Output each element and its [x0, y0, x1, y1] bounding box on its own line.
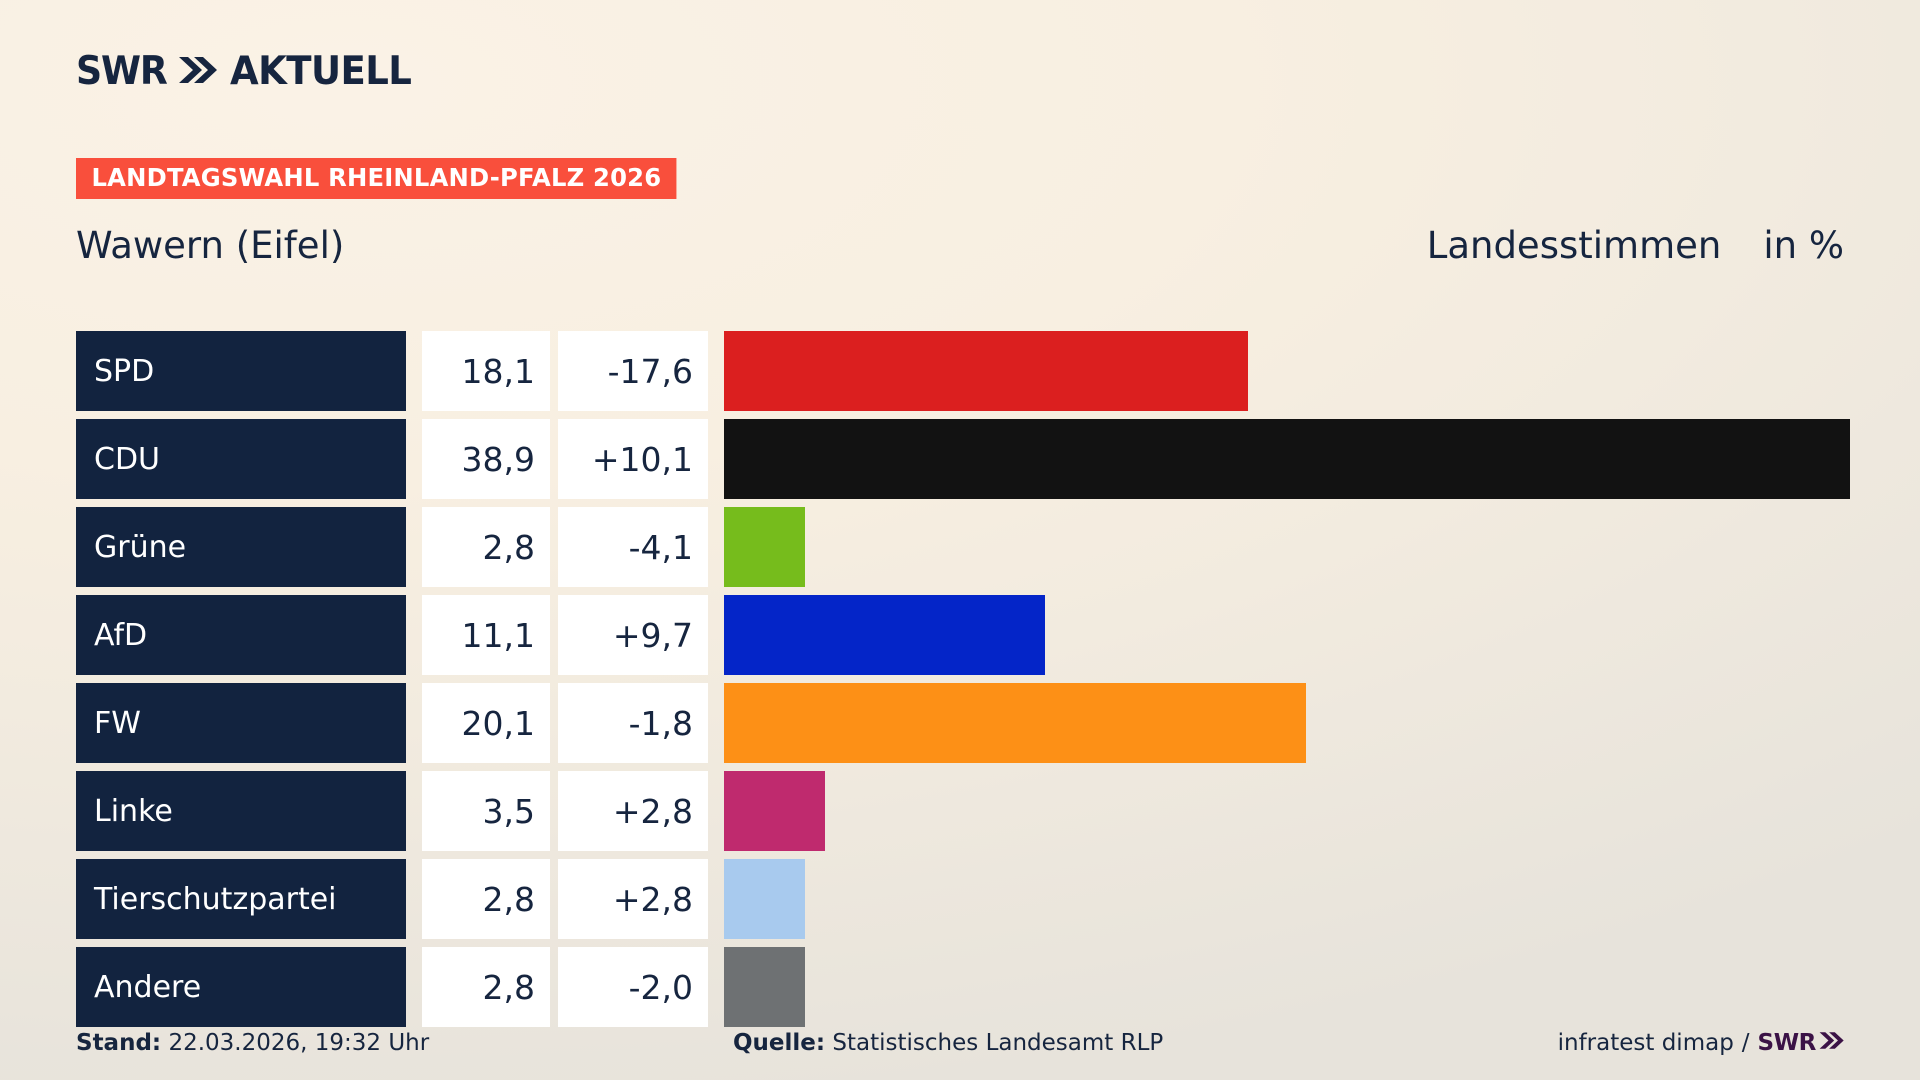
party-name-cell: CDU: [76, 419, 406, 499]
party-share-cell: 2,8: [422, 507, 550, 587]
footer-stand-label: Stand:: [76, 1030, 161, 1056]
chart-row: Linke3,5+2,8: [76, 771, 1920, 851]
footer-source-label: Quelle:: [733, 1030, 825, 1056]
chevron-double-right-icon: [177, 55, 217, 88]
footer-source: Quelle: Statistisches Landesamt RLP: [733, 1030, 1163, 1056]
election-kicker-badge: LANDTAGSWAHL RHEINLAND-PFALZ 2026: [76, 158, 677, 199]
party-name-cell: FW: [76, 683, 406, 763]
party-name-cell: AfD: [76, 595, 406, 675]
party-change-cell: -17,6: [558, 331, 708, 411]
region-name: Wawern (Eifel): [76, 227, 344, 264]
party-bar: [724, 595, 1045, 675]
footer-source-value: Statistisches Landesamt RLP: [832, 1030, 1163, 1056]
chevron-double-right-icon-small: [1818, 1030, 1844, 1056]
credit-broadcaster: SWR: [1758, 1030, 1816, 1056]
party-bar: [724, 507, 805, 587]
cell-spacer: [406, 331, 422, 411]
bar-track: [724, 595, 1920, 675]
chart-row: Tierschutzpartei2,8+2,8: [76, 859, 1920, 939]
party-bar: [724, 771, 825, 851]
cell-spacer: [406, 859, 422, 939]
party-change-cell: -1,8: [558, 683, 708, 763]
party-bar: [724, 859, 805, 939]
chart-row: CDU38,9+10,1: [76, 419, 1920, 499]
party-share-cell: 3,5: [422, 771, 550, 851]
bar-track: [724, 859, 1920, 939]
cell-spacer: [406, 507, 422, 587]
party-share-cell: 2,8: [422, 859, 550, 939]
party-name-cell: Linke: [76, 771, 406, 851]
cell-spacer: [406, 947, 422, 1027]
bar-track: [724, 331, 1920, 411]
swr-wordmark: SWR: [76, 52, 167, 91]
party-change-cell: -2,0: [558, 947, 708, 1027]
party-name-cell: Andere: [76, 947, 406, 1027]
party-bar: [724, 419, 1850, 499]
cell-spacer: [406, 683, 422, 763]
footer-stand-value: 22.03.2026, 19:32 Uhr: [168, 1030, 429, 1056]
chart-row: AfD11,1+9,7: [76, 595, 1920, 675]
party-bar: [724, 947, 805, 1027]
party-share-cell: 20,1: [422, 683, 550, 763]
bar-track: [724, 507, 1920, 587]
party-share-cell: 18,1: [422, 331, 550, 411]
party-name-cell: SPD: [76, 331, 406, 411]
party-share-cell: 2,8: [422, 947, 550, 1027]
bar-track: [724, 683, 1920, 763]
bar-track: [724, 947, 1920, 1027]
chart-row: SPD18,1-17,6: [76, 331, 1920, 411]
subtitle-row: Wawern (Eifel) Landesstimmen in %: [76, 220, 1844, 270]
bar-track: [724, 419, 1920, 499]
cell-spacer: [406, 595, 422, 675]
swr-aktuell-logo: SWR AKTUELL: [76, 52, 420, 91]
party-change-cell: +9,7: [558, 595, 708, 675]
footer: Stand: 22.03.2026, 19:32 Uhr Quelle: Sta…: [76, 1030, 1844, 1070]
party-change-cell: +10,1: [558, 419, 708, 499]
chart-row: Grüne2,8-4,1: [76, 507, 1920, 587]
party-change-cell: +2,8: [558, 859, 708, 939]
infographic-canvas: SWR AKTUELL LANDTAGSWAHL RHEINLAND-PFALZ…: [0, 0, 1920, 1080]
party-change-cell: +2,8: [558, 771, 708, 851]
metric-group: Landesstimmen in %: [1427, 227, 1844, 264]
bar-track: [724, 771, 1920, 851]
credit-separator: /: [1742, 1030, 1750, 1056]
results-bar-chart: SPD18,1-17,6CDU38,9+10,1Grüne2,8-4,1AfD1…: [76, 331, 1920, 1035]
party-share-cell: 11,1: [422, 595, 550, 675]
party-share-cell: 38,9: [422, 419, 550, 499]
party-change-cell: -4,1: [558, 507, 708, 587]
party-bar: [724, 683, 1306, 763]
aktuell-wordmark: AKTUELL: [230, 52, 411, 91]
credit-institute: infratest dimap: [1558, 1030, 1734, 1056]
chart-row: FW20,1-1,8: [76, 683, 1920, 763]
cell-spacer: [406, 771, 422, 851]
chart-row: Andere2,8-2,0: [76, 947, 1920, 1027]
party-bar: [724, 331, 1248, 411]
unit-label: in %: [1763, 227, 1844, 264]
footer-stand: Stand: 22.03.2026, 19:32 Uhr: [76, 1030, 429, 1056]
party-name-cell: Grüne: [76, 507, 406, 587]
metric-label: Landesstimmen: [1427, 227, 1722, 264]
footer-credit: infratest dimap / SWR: [1558, 1030, 1844, 1056]
party-name-cell: Tierschutzpartei: [76, 859, 406, 939]
cell-spacer: [406, 419, 422, 499]
